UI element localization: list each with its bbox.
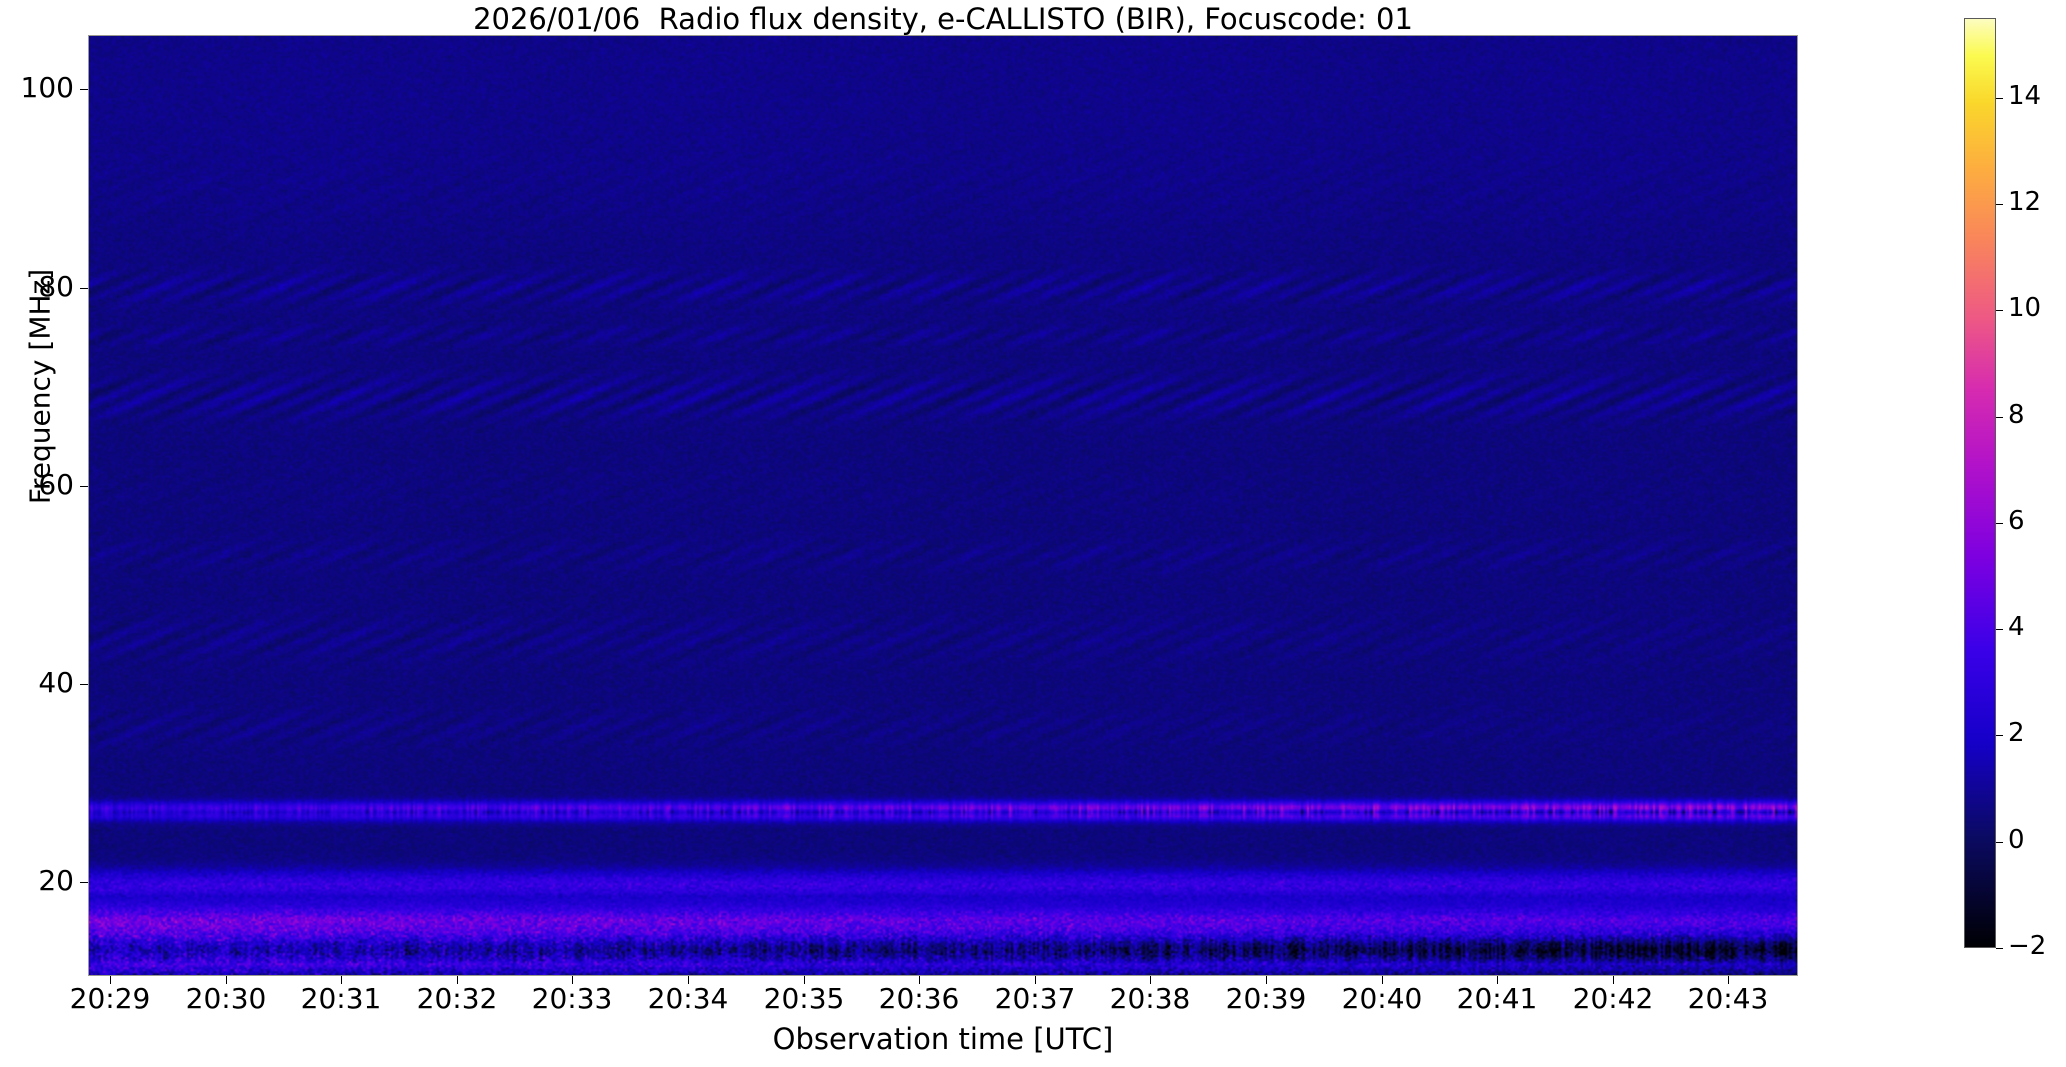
colorbar-tick-label: 6: [2008, 506, 2025, 536]
colorbar-tick-mark: [1996, 523, 2003, 524]
x-tick-label: 20:43: [1678, 982, 1778, 1015]
x-tick-label: 20:30: [176, 982, 276, 1015]
x-axis-label: Observation time [UTC]: [88, 1022, 1798, 1056]
colorbar-tick-mark: [1996, 310, 2003, 311]
x-tick-label: 20:37: [985, 982, 1085, 1015]
colorbar-tick-label: 4: [2008, 612, 2025, 642]
x-tick-label: 20:31: [291, 982, 391, 1015]
x-tick-label: 20:40: [1332, 982, 1432, 1015]
colorbar-tick-label: −2: [2008, 931, 2046, 961]
colorbar-tick-mark: [1996, 204, 2003, 205]
x-tick-label: 20:35: [754, 982, 854, 1015]
x-tick-label: 20:33: [522, 982, 622, 1015]
colorbar-tick-label: 8: [2008, 400, 2025, 430]
colorbar-tick-mark: [1996, 629, 2003, 630]
colorbar-tick-mark: [1996, 948, 2003, 949]
y-tick-label: 40: [38, 666, 74, 699]
y-tick-label: 60: [38, 468, 74, 501]
colorbar-gradient: [1965, 19, 1995, 947]
colorbar-tick-label: 0: [2008, 825, 2025, 855]
x-tick-label: 20:36: [869, 982, 969, 1015]
colorbar-tick-mark: [1996, 735, 2003, 736]
y-tick-mark: [80, 684, 88, 685]
x-tick-label: 20:32: [407, 982, 507, 1015]
spectrogram-image: [89, 36, 1797, 975]
y-tick-mark: [80, 882, 88, 883]
x-tick-label: 20:39: [1216, 982, 1316, 1015]
colorbar[interactable]: [1964, 18, 1996, 948]
x-tick-label: 20:38: [1100, 982, 1200, 1015]
y-tick-label: 100: [21, 71, 74, 104]
colorbar-tick-label: 14: [2008, 81, 2041, 111]
x-tick-label: 20:29: [60, 982, 160, 1015]
y-tick-mark: [80, 89, 88, 90]
colorbar-tick-mark: [1996, 417, 2003, 418]
y-tick-label: 80: [38, 270, 74, 303]
colorbar-tick-label: 10: [2008, 293, 2041, 323]
spectrogram-plot-area[interactable]: [88, 35, 1798, 976]
colorbar-tick-label: 2: [2008, 718, 2025, 748]
colorbar-tick-mark: [1996, 98, 2003, 99]
y-tick-label: 20: [38, 864, 74, 897]
y-tick-mark: [80, 288, 88, 289]
y-tick-mark: [80, 486, 88, 487]
x-tick-label: 20:41: [1447, 982, 1547, 1015]
x-tick-label: 20:34: [638, 982, 738, 1015]
x-tick-label: 20:42: [1563, 982, 1663, 1015]
colorbar-tick-label: 12: [2008, 187, 2041, 217]
page-title: 2026/01/06 Radio flux density, e-CALLIST…: [0, 2, 1886, 36]
colorbar-tick-mark: [1996, 842, 2003, 843]
